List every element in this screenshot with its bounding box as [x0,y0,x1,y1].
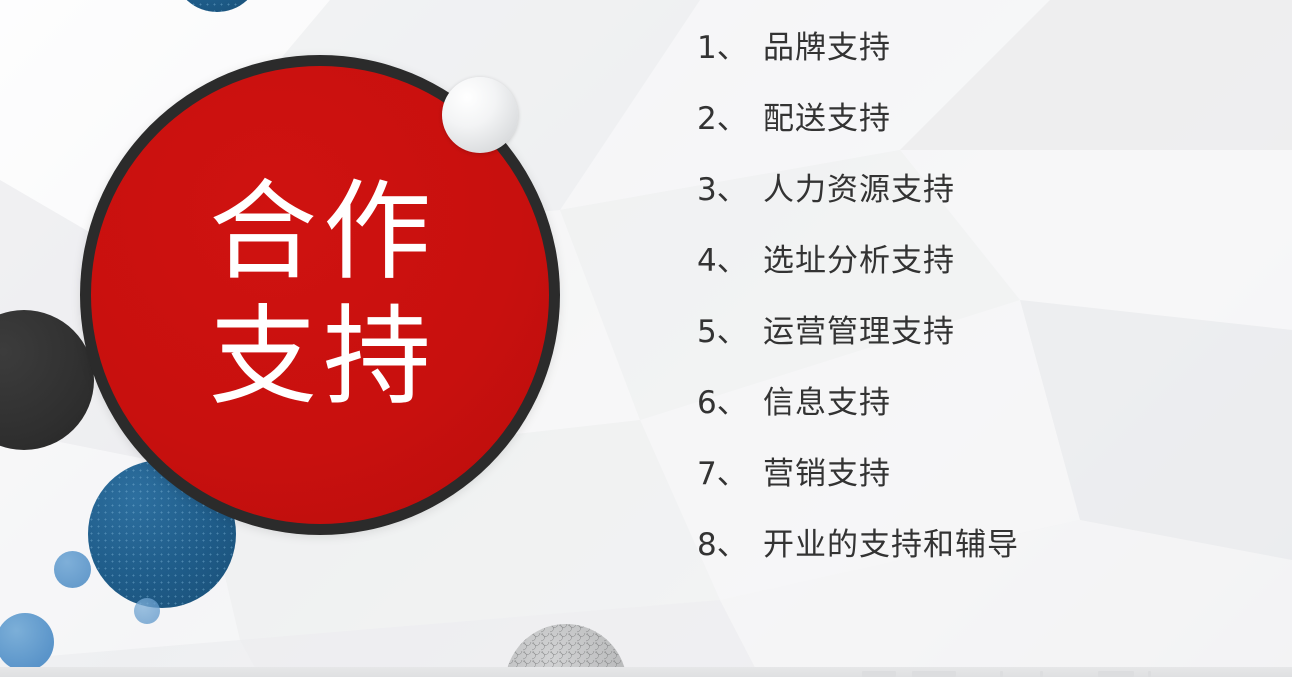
presentation-slide: 合作 支持 1、 品牌支持 2、 配送支持 3、 人力资源支持 4、 选址分析支… [0,0,1292,677]
chrome-chip [862,671,896,677]
white-sphere-accent-icon [442,77,518,153]
badge-title-line-2: 支持 [203,295,437,420]
list-item-number: 2、 [697,93,763,138]
list-item-number: 7、 [697,448,763,493]
list-item: 3、 人力资源支持 [697,164,1257,235]
blue-circle-small-1-icon [54,551,91,588]
list-item-number: 6、 [697,377,763,422]
list-item-label: 开业的支持和辅导 [763,519,1019,564]
list-item: 7、 营销支持 [697,448,1257,519]
list-item-label: 营销支持 [763,448,891,493]
chrome-chip [1040,671,1043,677]
list-item: 4、 选址分析支持 [697,235,1257,306]
chrome-chip [1000,671,1003,677]
list-item-label: 品牌支持 [763,22,891,67]
list-item-number: 8、 [697,519,763,564]
bottom-chrome-strip [0,669,1292,677]
chrome-chip [1098,671,1134,677]
list-item-label: 信息支持 [763,377,891,422]
list-item: 8、 开业的支持和辅导 [697,519,1257,590]
list-item-label: 选址分析支持 [763,235,955,280]
list-item: 6、 信息支持 [697,377,1257,448]
list-item-label: 运营管理支持 [763,306,955,351]
list-item-number: 4、 [697,235,763,280]
list-item: 2、 配送支持 [697,93,1257,164]
list-item-number: 5、 [697,306,763,351]
list-item-number: 3、 [697,164,763,209]
list-item-label: 人力资源支持 [763,164,955,209]
support-items-list: 1、 品牌支持 2、 配送支持 3、 人力资源支持 4、 选址分析支持 5、 运… [697,22,1257,590]
chrome-chip [912,671,956,677]
blue-circle-small-2-icon [134,598,160,624]
badge-title-line-1: 合作 [203,170,437,295]
list-item: 1、 品牌支持 [697,22,1257,93]
chrome-chip [1148,671,1151,677]
list-item-label: 配送支持 [763,93,891,138]
list-item: 5、 运营管理支持 [697,306,1257,377]
list-item-number: 1、 [697,22,763,67]
